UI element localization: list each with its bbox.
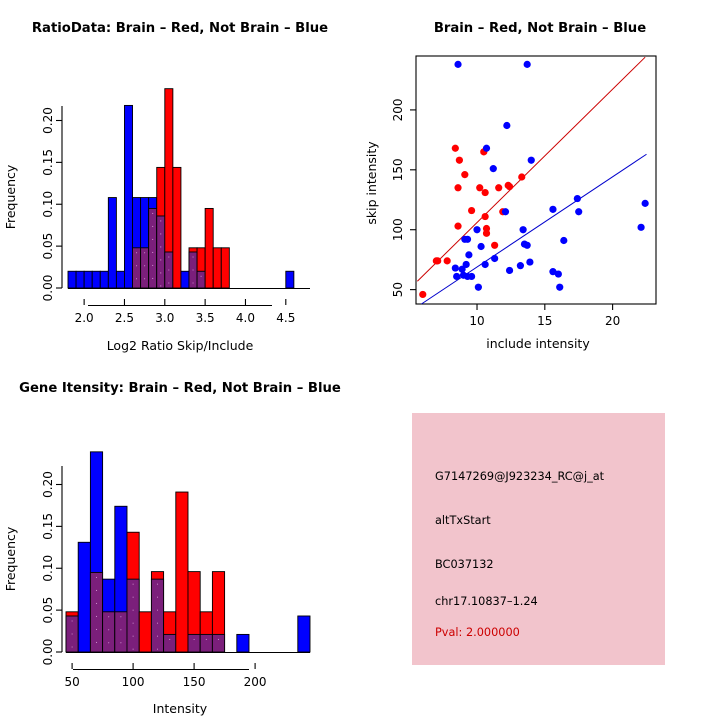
gene-info-line-4: chr17.10837–1.24 [435,595,538,608]
gene-intensity-y-axis: 0.000.050.100.150.20 [41,466,62,665]
svg-text:150: 150 [391,158,405,181]
ratio-histogram-panel: RatioData: Brain – Red, Not Brain – Blue… [0,0,360,360]
scatter-y-axis: 50100150200 [391,98,416,297]
gene-intensity-ylabel: Frequency [3,526,18,591]
svg-text:2.0: 2.0 [75,311,94,325]
svg-text:0.10: 0.10 [41,191,55,218]
gene-intensity-histogram-svg: 0.000.050.100.150.20 50100150200 Intensi… [0,360,360,720]
gene-intensity-xlabel: Intensity [153,701,208,716]
svg-text:10: 10 [469,314,484,328]
svg-text:0.00: 0.00 [41,639,55,666]
svg-text:0.05: 0.05 [41,597,55,624]
gene-intensity-histogram-bars [66,452,310,652]
gene-info-line-1: G7147269@J923234_RC@j_at [435,470,604,483]
svg-text:0.00: 0.00 [41,275,55,302]
ratio-histogram-ylabel: Frequency [3,164,18,229]
intensity-scatter-xlabel: include intensity [486,336,590,351]
gene-info-line-2: altTxStart [435,514,491,527]
svg-text:0.20: 0.20 [41,471,55,498]
svg-text:0.15: 0.15 [41,149,55,176]
svg-text:3.5: 3.5 [196,311,215,325]
ratio-histogram-y-axis: 0.000.050.100.150.20 [41,106,62,301]
gene-info-pval: Pval: 2.000000 [435,626,520,639]
gene-intensity-x-axis: 50100150200 [64,653,310,690]
svg-text:20: 20 [605,314,620,328]
svg-text:100: 100 [122,675,145,689]
ratio-histogram-title: RatioData: Brain – Red, Not Brain – Blue [0,21,360,36]
intensity-scatter-ylabel: skip intensity [364,141,379,225]
scatter-regression-lines [417,57,646,304]
intensity-scatter-svg: 50100150200 101520 include intensity ski… [360,0,720,360]
svg-text:50: 50 [64,675,79,689]
gene-info-line-3: BC037132 [435,558,494,571]
scatter-x-axis: 101520 [469,304,620,328]
ratio-histogram-xlabel: Log2 Ratio Skip/Include [107,338,254,353]
svg-text:4.5: 4.5 [276,311,295,325]
svg-text:0.10: 0.10 [41,555,55,582]
svg-text:200: 200 [391,98,405,121]
svg-text:50: 50 [391,282,405,297]
svg-text:150: 150 [183,675,206,689]
intensity-scatter-title: Brain – Red, Not Brain – Blue [360,21,720,36]
svg-text:15: 15 [537,314,552,328]
ratio-histogram-bars [68,89,294,288]
scatter-points [419,61,649,298]
svg-text:200: 200 [244,675,267,689]
svg-text:4.0: 4.0 [236,311,255,325]
svg-text:100: 100 [391,218,405,241]
gene-info-panel: G7147269@J923234_RC@j_at altTxStart BC03… [360,360,720,720]
gene-info-box: G7147269@J923234_RC@j_at altTxStart BC03… [412,413,665,665]
intensity-scatter-panel: Brain – Red, Not Brain – Blue 5010015020… [360,0,720,360]
ratio-histogram-svg: 0.000.050.100.150.20 2.02.53.03.54.04.5 … [0,0,360,360]
gene-intensity-histogram-title: Gene Itensity: Brain – Red, Not Brain – … [0,381,360,396]
svg-text:0.05: 0.05 [41,233,55,260]
svg-text:3.0: 3.0 [155,311,174,325]
gene-intensity-histogram-panel: Gene Itensity: Brain – Red, Not Brain – … [0,360,360,720]
ratio-histogram-x-axis: 2.02.53.03.54.04.5 [68,289,310,326]
svg-text:0.20: 0.20 [41,107,55,134]
svg-text:2.5: 2.5 [115,311,134,325]
svg-text:0.15: 0.15 [41,513,55,540]
